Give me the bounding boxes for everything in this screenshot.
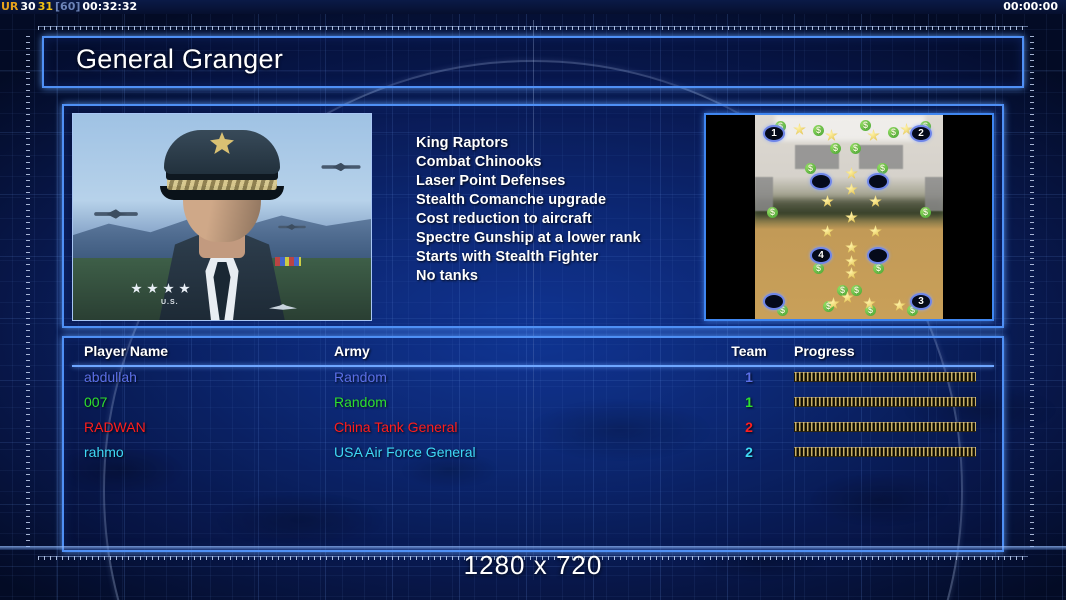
supply-dock-icon: $ <box>830 143 841 154</box>
player-team-cell: 2 <box>704 439 794 464</box>
title-panel: General Granger <box>42 36 1024 88</box>
supply-dock-icon: $ <box>920 207 931 218</box>
ability-item: Combat Chinooks <box>416 153 641 172</box>
resolution-label: 1280 x 720 <box>0 550 1066 581</box>
start-position-marker: 3 <box>910 293 932 310</box>
oil-derrick-icon <box>821 225 834 238</box>
player-army-cell: Random <box>334 364 704 389</box>
start-position-marker <box>867 173 889 190</box>
minimap-tree-line <box>755 199 943 217</box>
player-team-cell: 1 <box>704 364 794 389</box>
player-name-cell: rahmo <box>84 439 334 464</box>
column-header-team: Team <box>704 342 794 364</box>
oil-derrick-icon <box>845 167 858 180</box>
ability-item: Stealth Comanche upgrade <box>416 191 641 210</box>
player-progress-cell <box>794 364 994 389</box>
supply-dock-icon: $ <box>860 120 871 131</box>
column-header-player-name: Player Name <box>84 342 334 364</box>
officer-figure: U.S. <box>117 130 327 320</box>
player-team-cell: 2 <box>704 414 794 439</box>
supply-dock-icon: $ <box>805 163 816 174</box>
status-bar: UR 30 31 [60] 00:32:32 00:00:00 <box>0 0 1066 14</box>
player-name-cell: abdullah <box>84 364 334 389</box>
general-portrait: U.S. <box>72 113 372 321</box>
loading-screen: UR 30 31 [60] 00:32:32 00:00:00 General … <box>0 0 1066 600</box>
status-value-1: 30 <box>19 0 36 14</box>
general-abilities-list: King Raptors Combat Chinooks Laser Point… <box>416 134 641 286</box>
start-position-marker: 1 <box>763 125 785 142</box>
supply-dock-icon: $ <box>850 143 861 154</box>
load-progress-bar <box>794 372 976 382</box>
player-list-panel: Player Name Army Team Progress abdullahR… <box>62 336 1004 552</box>
supply-dock-icon: $ <box>851 285 862 296</box>
ability-item: No tanks <box>416 267 641 286</box>
general-info-panel: U.S. King Raptors Combat Chinooks Laser … <box>62 104 1004 328</box>
table-row: rahmoUSA Air Force General2 <box>84 439 994 464</box>
oil-derrick-icon <box>845 241 858 254</box>
header-divider <box>72 365 994 367</box>
player-army-cell: Random <box>334 389 704 414</box>
supply-dock-icon: $ <box>888 127 899 138</box>
supply-dock-icon: $ <box>813 263 824 274</box>
supply-dock-icon: $ <box>837 285 848 296</box>
ability-item: Laser Point Defenses <box>416 172 641 191</box>
service-ribbons-icon <box>275 257 301 266</box>
table-row: RADWANChina Tank General2 <box>84 414 994 439</box>
start-position-marker <box>763 293 785 310</box>
minimap-cliff <box>755 177 773 211</box>
oil-derrick-icon <box>845 183 858 196</box>
player-progress-cell <box>794 389 994 414</box>
minimap-cliff <box>925 177 943 211</box>
column-header-progress: Progress <box>794 342 994 364</box>
player-table-wrap: Player Name Army Team Progress abdullahR… <box>64 338 1002 550</box>
oil-derrick-icon <box>845 267 858 280</box>
ruler-left <box>26 36 35 552</box>
minimap-terrain: $$$$$$$$$$$$$$$$$$$1243 <box>755 115 943 319</box>
oil-derrick-icon <box>893 299 906 312</box>
minimap-panel: $$$$$$$$$$$$$$$$$$$1243 <box>704 113 994 321</box>
page-title: General Granger <box>76 44 283 75</box>
table-header-row: Player Name Army Team Progress <box>84 342 994 364</box>
player-progress-cell <box>794 439 994 464</box>
ability-item: Cost reduction to aircraft <box>416 210 641 229</box>
start-position-marker <box>867 247 889 264</box>
player-army-cell: USA Air Force General <box>334 439 704 464</box>
player-army-cell: China Tank General <box>334 414 704 439</box>
ruler-top <box>38 26 1028 35</box>
rank-stars-icon <box>131 283 190 294</box>
ability-item: Spectre Gunship at a lower rank <box>416 229 641 248</box>
player-rows: abdullahRandom1007Random1RADWANChina Tan… <box>84 364 994 464</box>
load-progress-bar <box>794 447 976 457</box>
ability-item: King Raptors <box>416 134 641 153</box>
table-row: 007Random1 <box>84 389 994 414</box>
oil-derrick-icon <box>869 225 882 238</box>
load-progress-bar <box>794 422 976 432</box>
status-clock: 00:32:32 <box>81 0 138 14</box>
ability-item: Starts with Stealth Fighter <box>416 248 641 267</box>
aircraft-icon <box>321 163 360 172</box>
oil-derrick-icon <box>845 255 858 268</box>
supply-dock-icon: $ <box>767 207 778 218</box>
player-name-cell: 007 <box>84 389 334 414</box>
player-team-cell: 1 <box>704 389 794 414</box>
status-value-2: 31 <box>37 0 54 14</box>
player-name-cell: RADWAN <box>84 414 334 439</box>
us-insignia-icon: U.S. <box>161 299 179 306</box>
supply-dock-icon: $ <box>813 125 824 136</box>
start-position-marker <box>810 173 832 190</box>
elapsed-timer: 00:00:00 <box>1003 0 1066 14</box>
ruler-right <box>1030 36 1039 552</box>
load-progress-bar <box>794 397 976 407</box>
start-position-marker: 2 <box>910 125 932 142</box>
player-table: Player Name Army Team Progress abdullahR… <box>84 342 994 464</box>
column-header-army: Army <box>334 342 704 364</box>
status-label: UR <box>0 0 19 14</box>
table-row: abdullahRandom1 <box>84 364 994 389</box>
player-progress-cell <box>794 414 994 439</box>
supply-dock-icon: $ <box>873 263 884 274</box>
start-position-marker: 4 <box>810 247 832 264</box>
status-max-value: [60] <box>54 0 81 14</box>
